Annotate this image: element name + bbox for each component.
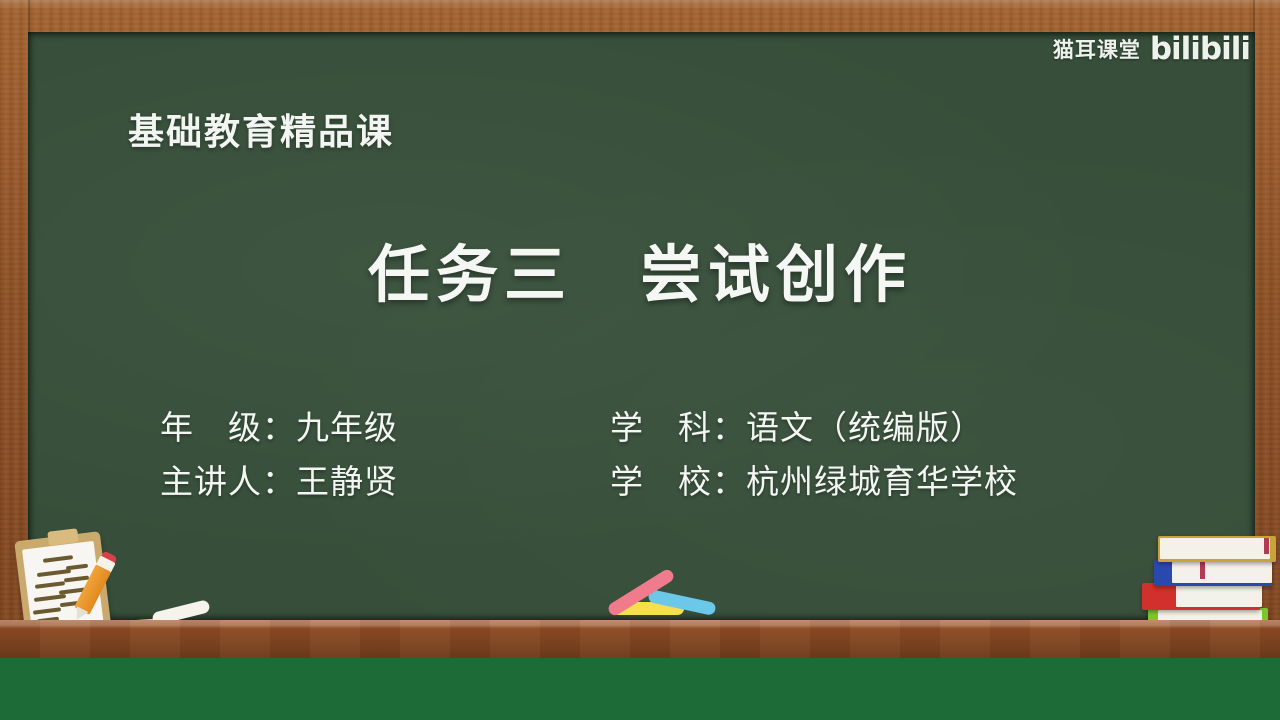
bookmark-ribbon [1264,538,1269,554]
book-tan-pages [1160,538,1270,559]
chalk-ledge-grain [0,620,1280,658]
frame-seam-right [1253,0,1255,34]
frame-seam-left [28,0,30,34]
bottom-green-band [0,658,1280,720]
bilibili-logo: bilibili [1150,34,1250,65]
info-presenter: 主讲人：王静贤 [160,455,610,503]
book-red-pages [1176,585,1262,607]
wooden-frame-highlight [0,0,1280,10]
course-program-label: 基础教育精品课 [128,103,394,155]
page-title: 任务三 尝试创作 [0,224,1280,314]
book-blue-pages [1172,562,1272,583]
watermark-channel-label: 猫耳课堂 [1053,34,1141,64]
course-info-grid: 年 级：九年级 学 科：语文（统编版） 主讲人：王静贤 学 校：杭州绿城育华学校 [160,398,1120,506]
info-subject: 学 科：语文（统编版） [610,401,1120,449]
info-school: 学 校：杭州绿城育华学校 [610,455,1120,503]
slide-canvas: 猫耳课堂 bilibili 基础教育精品课 任务三 尝试创作 年 级：九年级 学… [0,0,1280,720]
watermark: 猫耳课堂 bilibili [1053,33,1250,64]
info-grade: 年 级：九年级 [160,401,610,449]
bookmark-ribbon [1200,562,1205,579]
